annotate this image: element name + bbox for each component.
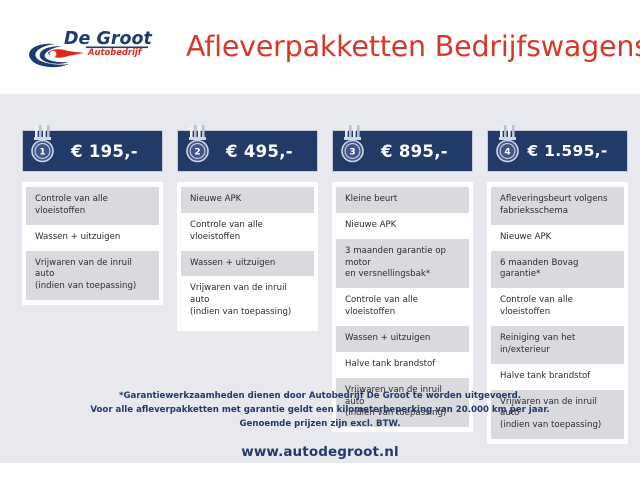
logo-graphic: De Groot Autobedrijf <box>22 26 172 74</box>
package-feature-item: Controle van alle vloeistoffen <box>26 187 159 225</box>
package-feature-item: Afleveringsbeurt volgensfabrieksschema <box>491 187 624 225</box>
svg-text:Autobedrijf: Autobedrijf <box>87 47 143 57</box>
package-feature-item: Nieuwe APK <box>181 187 314 213</box>
package-feature-item: Halve tank brandstof <box>336 352 469 378</box>
package-feature-item: 6 maanden Bovag garantie* <box>491 251 624 289</box>
package-column-3: 3€ 895,-Kleine beurtNieuwe APK3 maanden … <box>332 130 473 432</box>
package-price-header-4: 4€ 1.595,- <box>487 130 628 172</box>
package-column-2: 2€ 495,-Nieuwe APKControle van alle vloe… <box>177 130 318 331</box>
package-feature-item: Controle van alle vloeistoffen <box>336 288 469 326</box>
package-feature-list-1: Controle van alle vloeistoffenWassen + u… <box>22 182 163 305</box>
package-feature-item: Controle van alle vloeistoffen <box>181 213 314 251</box>
poster-page: De Groot Autobedrijf Afleverpakketten Be… <box>0 0 640 480</box>
package-price-2: € 495,- <box>178 142 317 161</box>
package-feature-item: Controle van alle vloeistoffen <box>491 288 624 326</box>
svg-text:De Groot: De Groot <box>64 29 153 49</box>
package-columns: 1€ 195,-Controle van alle vloeistoffenWa… <box>0 94 640 394</box>
page-title: Afleverpakketten Bedrijfswagens <box>186 30 640 63</box>
package-feature-list-2: Nieuwe APKControle van alle vloeistoffen… <box>177 182 318 331</box>
package-feature-item: Nieuwe APK <box>336 213 469 239</box>
package-feature-item: Kleine beurt <box>336 187 469 213</box>
package-feature-item: Wassen + uitzuigen <box>181 251 314 277</box>
package-price-3: € 895,- <box>333 142 472 161</box>
package-price-1: € 195,- <box>23 142 162 161</box>
disclaimer-line-2: Voor alle afleverpakketten met garantie … <box>0 404 640 418</box>
package-feature-item: Nieuwe APK <box>491 225 624 251</box>
package-feature-item: Vrijwaren van de inruil auto(indien van … <box>181 276 314 326</box>
package-feature-item: Reiniging van het in/exterieur <box>491 326 624 364</box>
package-feature-item: Wassen + uitzuigen <box>26 225 159 251</box>
package-feature-item: Vrijwaren van de inruil auto(indien van … <box>26 251 159 301</box>
packages-section: 1€ 195,-Controle van alle vloeistoffenWa… <box>0 94 640 463</box>
disclaimer-line-1: *Garantiewerkzaamheden dienen door Autob… <box>0 390 640 404</box>
package-price-4: € 1.595,- <box>488 142 627 160</box>
de-groot-logo[interactable]: De Groot Autobedrijf <box>22 26 172 74</box>
disclaimer-line-3: Genoemde prijzen zijn excl. BTW. <box>0 418 640 432</box>
package-price-header-1: 1€ 195,- <box>22 130 163 172</box>
footer-disclaimer: *Garantiewerkzaamheden dienen door Autob… <box>0 390 640 432</box>
package-feature-item: Halve tank brandstof <box>491 364 624 390</box>
package-column-1: 1€ 195,-Controle van alle vloeistoffenWa… <box>22 130 163 305</box>
package-feature-item: Wassen + uitzuigen <box>336 326 469 352</box>
package-price-header-3: 3€ 895,- <box>332 130 473 172</box>
package-feature-item: 3 maanden garantie op motoren versnellin… <box>336 239 469 289</box>
package-price-header-2: 2€ 495,- <box>177 130 318 172</box>
website-url[interactable]: www.autodegroot.nl <box>0 444 640 460</box>
page-header: De Groot Autobedrijf Afleverpakketten Be… <box>0 0 640 94</box>
